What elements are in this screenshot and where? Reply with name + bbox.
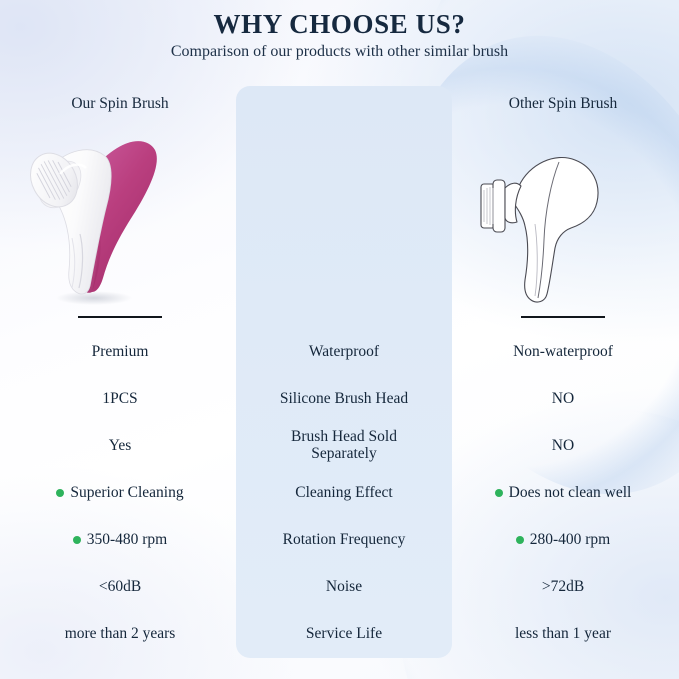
column-feature-labels: Waterproof Silicone Brush Head Brush Hea…	[232, 92, 456, 657]
middle-spacer	[232, 116, 456, 316]
table-row: Cleaning Effect	[232, 469, 456, 516]
table-row: Service Life	[232, 610, 456, 657]
table-row: Silicone Brush Head	[232, 375, 456, 422]
row-value: less than 1 year	[515, 625, 611, 642]
product-image-other-brush	[451, 116, 675, 316]
table-row: more than 2 years	[8, 610, 232, 657]
row-value: Non-waterproof	[513, 343, 613, 360]
row-value: NO	[552, 390, 574, 407]
row-value: Yes	[109, 437, 132, 454]
column-header-right: Other Spin Brush	[451, 92, 675, 116]
feature-values-left: Premium 1PCS Yes Superior Cleaning 350-4…	[8, 318, 232, 657]
table-row: <60dB	[8, 563, 232, 610]
row-label: Silicone Brush Head	[280, 390, 408, 407]
row-value: 280-400 rpm	[530, 531, 611, 548]
row-label: Brush Head Sold Separately	[291, 429, 397, 462]
table-row: less than 1 year	[451, 610, 675, 657]
table-row: NO	[451, 422, 675, 469]
comparison-infographic: WHY CHOOSE US? Comparison of our product…	[0, 0, 679, 679]
table-row: Does not clean well	[451, 469, 675, 516]
row-value: NO	[552, 437, 574, 454]
column-other-spin-brush: Other Spin Brush	[451, 92, 675, 657]
bullet-dot-icon	[56, 489, 64, 497]
table-row: Superior Cleaning	[8, 469, 232, 516]
product-image-our-brush	[8, 116, 232, 316]
column-header-left: Our Spin Brush	[8, 92, 232, 116]
table-row: Premium	[8, 328, 232, 375]
table-row: 1PCS	[8, 375, 232, 422]
feature-values-right: Non-waterproof NO NO Does not clean well…	[451, 318, 675, 657]
table-row: NO	[451, 375, 675, 422]
row-value: Premium	[92, 343, 149, 360]
bullet-dot-icon	[495, 489, 503, 497]
table-row: 350-480 rpm	[8, 516, 232, 563]
row-value: more than 2 years	[65, 625, 176, 642]
feature-labels-middle: Waterproof Silicone Brush Head Brush Hea…	[232, 318, 456, 657]
spin-brush-outline-icon	[451, 116, 675, 316]
bullet-dot-icon	[73, 536, 81, 544]
row-value: 350-480 rpm	[87, 531, 168, 548]
row-label: Noise	[326, 578, 362, 595]
row-label: Waterproof	[309, 343, 379, 360]
table-row: Noise	[232, 563, 456, 610]
table-row: Waterproof	[232, 328, 456, 375]
table-row: Non-waterproof	[451, 328, 675, 375]
row-value: 1PCS	[102, 390, 137, 407]
page-subtitle: Comparison of our products with other si…	[0, 43, 679, 61]
table-row: Brush Head Sold Separately	[232, 422, 456, 469]
bullet-dot-icon	[516, 536, 524, 544]
page-title: WHY CHOOSE US?	[0, 9, 679, 40]
row-value: >72dB	[542, 578, 584, 595]
row-label: Service Life	[306, 625, 382, 642]
table-row: >72dB	[451, 563, 675, 610]
table-row: 280-400 rpm	[451, 516, 675, 563]
column-header-middle	[232, 92, 456, 116]
row-value: Does not clean well	[509, 484, 632, 501]
table-row: Rotation Frequency	[232, 516, 456, 563]
spin-brush-pink-white-icon	[8, 116, 232, 316]
row-label: Rotation Frequency	[283, 531, 406, 548]
row-value: Superior Cleaning	[70, 484, 183, 501]
column-our-spin-brush: Our Spin Brush	[8, 92, 232, 657]
row-value: <60dB	[99, 578, 141, 595]
row-label: Cleaning Effect	[295, 484, 392, 501]
table-row: Yes	[8, 422, 232, 469]
